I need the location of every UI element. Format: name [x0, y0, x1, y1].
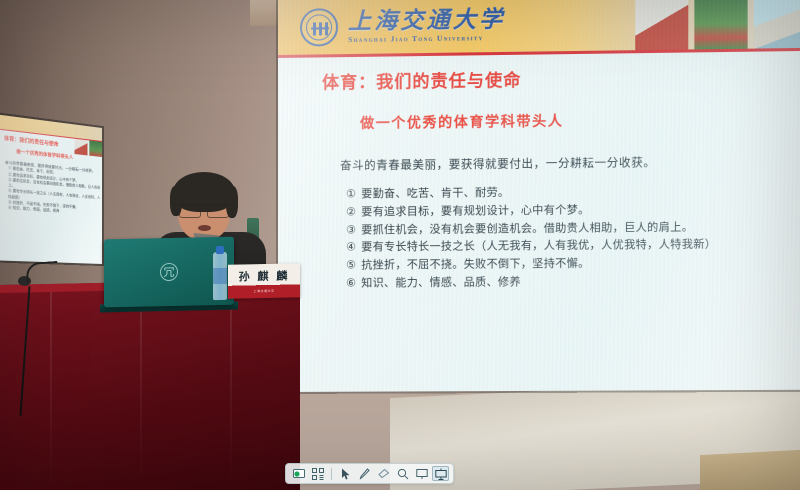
list-item-number: ③	[346, 223, 356, 236]
toolbar-divider	[331, 468, 332, 480]
nameplate-org: 上海交通大学	[253, 289, 274, 293]
slide-intro: 奋斗的青春最美丽，要获得就要付出，一分耕耘一分收获。	[340, 153, 787, 174]
slide-subtitle: 做一个优秀的体育学科带头人	[360, 108, 787, 133]
laptop-logo-icon: 冗	[160, 263, 178, 281]
statue-photo	[635, 0, 688, 50]
speaker-glasses	[179, 204, 229, 215]
cursor-icon[interactable]	[337, 466, 354, 481]
list-item-text: 要抓住机会，没有机会要创造机会。借助贵人相助，巨人的肩上。	[361, 220, 693, 236]
cloth-fold	[140, 288, 142, 488]
nameplate-name: 孙 麒 麟	[239, 267, 290, 284]
side-monitor-glare	[0, 115, 102, 264]
side-monitor[interactable]: 体育：我们的责任与使命 做一个优秀的体育学科带头人 奋斗的青春最美丽，要获得就要…	[0, 115, 102, 264]
magnifier-icon[interactable]	[394, 466, 411, 481]
header-red-rule	[278, 48, 800, 58]
pen-icon[interactable]	[356, 466, 373, 481]
slide-bullet-list: ①要勤奋、吃苦、肯干、耐劳。 ②要有追求目标，要有规划设计，心中有个梦。 ③要抓…	[346, 181, 787, 292]
list-item: ⑥知识、能力、情感、品质、修养	[346, 271, 787, 292]
slide-header: 上海交通大学 Shanghai Jiao Tong University	[278, 0, 800, 55]
list-item-text: 要有专长特长一技之长（人无我有，人有我优，人优我特，人特我新）	[361, 238, 716, 254]
nameplate: 孙 麒 麟 上海交通大学	[228, 263, 300, 299]
building-photo	[754, 0, 800, 49]
list-item-number: ②	[346, 205, 356, 218]
slide-body: 体育：我们的责任与使命 做一个优秀的体育学科带头人 奋斗的青春最美丽，要获得就要…	[278, 62, 800, 392]
projection-screen[interactable]: 上海交通大学 Shanghai Jiao Tong University 体育：…	[278, 0, 800, 392]
university-name-en: Shanghai Jiao Tong University	[348, 34, 505, 44]
header-photo-strip	[635, 0, 800, 50]
list-item-number: ④	[346, 241, 356, 254]
list-item-text: 要勤奋、吃苦、肯干、耐劳。	[361, 186, 509, 200]
microphone-stem	[25, 261, 58, 283]
garden-photo	[694, 0, 747, 49]
list-item-text: 知识、能力、情感、品质、修养	[361, 275, 521, 289]
microphone	[18, 262, 58, 288]
cloth-fold	[50, 290, 52, 490]
screen-icon[interactable]	[413, 466, 430, 481]
whiteboard-icon[interactable]	[290, 466, 307, 481]
university-names: 上海交通大学 Shanghai Jiao Tong University	[348, 7, 505, 43]
sjtu-seal-icon	[300, 8, 338, 47]
water-bottle	[213, 252, 227, 300]
eraser-icon[interactable]	[375, 466, 392, 481]
presentation-scene: 上海交通大学 Shanghai Jiao Tong University 体育：…	[0, 0, 800, 490]
university-name-cn: 上海交通大学	[348, 7, 505, 32]
list-item-number: ①	[346, 187, 356, 200]
list-item-number: ⑤	[346, 259, 356, 272]
qr-code-icon[interactable]	[309, 466, 326, 481]
projector-icon[interactable]	[432, 466, 449, 481]
slide-title: 体育：我们的责任与使命	[322, 62, 787, 93]
annotation-toolbar[interactable]	[285, 463, 454, 484]
speaker-mouth	[198, 225, 211, 231]
list-item-text: 要有追求目标，要有规划设计，心中有个梦。	[361, 203, 589, 218]
list-item-number: ⑥	[346, 276, 356, 289]
cloth-fold	[230, 286, 232, 486]
floor-trim	[700, 449, 800, 490]
list-item-text: 抗挫折，不屈不挠。失败不倒下，坚持不懈。	[361, 257, 589, 272]
